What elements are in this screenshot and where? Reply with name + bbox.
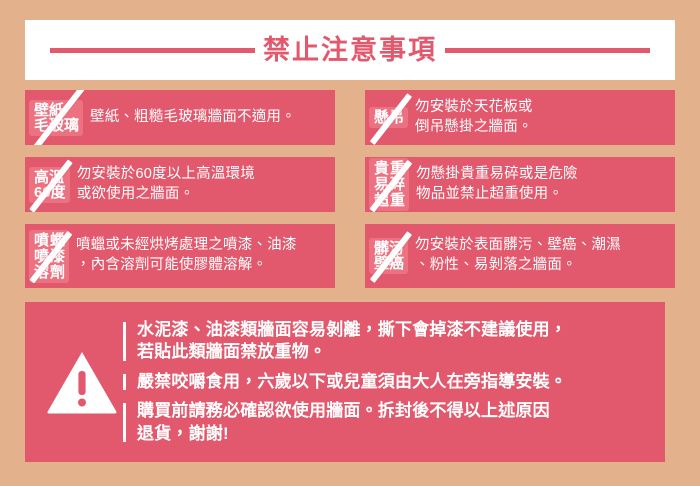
warning-tag-line: 壁紙: [34, 103, 79, 118]
warning-tag-line: 貴: [374, 161, 389, 176]
warning-box: 高溫60度勿安裝於60度以上高溫環境或欲使用之牆面。: [25, 157, 335, 212]
title-rule-left: [50, 48, 255, 53]
warning-tag-line: 超: [374, 193, 389, 208]
notice-paragraph-line: 嚴禁咬嚼食用，六歲以下或兒童須由大人在旁指導安裝。: [137, 371, 651, 393]
warning-box: 懸吊勿安裝於天花板或倒吊懸掛之牆面。: [365, 90, 675, 145]
notice-paragraph-line: 退貨，謝謝!: [137, 423, 651, 445]
warning-description: 勿安裝於60度以上高溫環境或欲使用之牆面。: [77, 165, 329, 204]
title-banner: 禁止注意事項: [25, 20, 675, 80]
page-title: 禁止注意事項: [263, 37, 437, 64]
warning-tag-line: 漆: [50, 249, 65, 264]
warning-description: 壁紙、粗糙毛玻璃牆面不適用。: [90, 108, 329, 128]
warning-grid: 壁紙毛玻璃壁紙、粗糙毛玻璃牆面不適用。懸吊勿安裝於天花板或倒吊懸掛之牆面。高溫6…: [25, 90, 675, 288]
notice-paragraph-line: 水泥漆、油漆類牆面容易剝離，撕下會掉漆不建議使用，: [137, 319, 651, 341]
warning-poster: 禁止注意事項 壁紙毛玻璃壁紙、粗糙毛玻璃牆面不適用。懸吊勿安裝於天花板或倒吊懸掛…: [0, 0, 700, 486]
warning-description-line: 勿懸掛貴重易碎或是危險: [416, 165, 669, 185]
warning-description-line: 、粉性、易剝落之牆面。: [415, 256, 669, 276]
warning-tag-line: 壁癌: [374, 256, 404, 271]
warning-tag: 噴蠟噴漆溶劑: [29, 230, 69, 283]
warning-description-line: 勿安裝於表面髒污、壁癌、潮濕: [415, 236, 669, 256]
warning-description: 勿安裝於表面髒污、壁癌、潮濕、粉性、易剝落之牆面。: [415, 236, 669, 275]
notice-paragraph-line: 購買前請務必確認欲使用牆面。拆封後不得以上述原因: [137, 400, 651, 422]
warning-tag: 貴重易碎超重: [369, 158, 409, 211]
warning-description-line: ，內含溶劑可能使膠體溶解。: [76, 256, 329, 276]
notice-paragraph-line: 若貼此類牆面禁放重物。: [137, 341, 651, 363]
warning-tag-line: 溶: [34, 265, 49, 280]
warning-triangle-icon: [43, 349, 121, 415]
warning-tag-line: 噴: [34, 233, 49, 248]
notice-paragraph: 購買前請務必確認欲使用牆面。拆封後不得以上述原因退貨，謝謝!: [123, 400, 651, 445]
warning-tag-line: 毛玻璃: [34, 118, 79, 133]
warning-description-line: 倒吊懸掛之牆面。: [415, 118, 669, 138]
warning-description-line: 勿安裝於60度以上高溫環境: [77, 165, 329, 185]
warning-tag-line: 易: [374, 177, 389, 192]
warning-tag-line: 懸吊: [374, 110, 404, 125]
warning-description-line: 噴蠟或未經烘烤處理之噴漆、油漆: [76, 236, 329, 256]
warning-box: 噴蠟噴漆溶劑噴蠟或未經烘烤處理之噴漆、油漆，內含溶劑可能使膠體溶解。: [25, 224, 335, 288]
warning-description-line: 或欲使用之牆面。: [77, 185, 329, 205]
warning-tag-line: 噴: [34, 249, 49, 264]
warning-tag-line: 重: [390, 161, 405, 176]
warning-description-line: 勿安裝於天花板或: [415, 98, 669, 118]
warning-tag-line: 重: [390, 193, 405, 208]
warning-tag: 懸吊: [369, 107, 408, 128]
warning-tag: 壁紙毛玻璃: [29, 100, 83, 136]
warning-tag-line: 碎: [390, 177, 405, 192]
warning-description-line: 壁紙、粗糙毛玻璃牆面不適用。: [90, 108, 329, 128]
warning-tag: 髒污壁癌: [369, 238, 408, 274]
warning-tag-line: 劑: [50, 265, 65, 280]
title-rule-right: [445, 48, 650, 53]
warning-description: 勿安裝於天花板或倒吊懸掛之牆面。: [415, 98, 669, 137]
warning-box: 髒污壁癌勿安裝於表面髒污、壁癌、潮濕、粉性、易剝落之牆面。: [365, 224, 675, 288]
warning-tag-line: 高溫: [34, 170, 66, 185]
warning-box: 壁紙毛玻璃壁紙、粗糙毛玻璃牆面不適用。: [25, 90, 335, 145]
warning-description-line: 物品並禁止超重使用。: [416, 185, 669, 205]
warning-tag-line: 髒污: [374, 241, 404, 256]
notice-paragraph: 水泥漆、油漆類牆面容易剝離，撕下會掉漆不建議使用，若貼此類牆面禁放重物。: [123, 319, 651, 364]
warning-box: 貴重易碎超重勿懸掛貴重易碎或是危險物品並禁止超重使用。: [365, 157, 675, 212]
warning-tag-line: 蠟: [50, 233, 65, 248]
warning-description: 噴蠟或未經烘烤處理之噴漆、油漆，內含溶劑可能使膠體溶解。: [76, 236, 329, 275]
notice-text-body: 水泥漆、油漆類牆面容易剝離，撕下會掉漆不建議使用，若貼此類牆面禁放重物。嚴禁咬嚼…: [121, 319, 651, 445]
notice-panel: 水泥漆、油漆類牆面容易剝離，撕下會掉漆不建議使用，若貼此類牆面禁放重物。嚴禁咬嚼…: [25, 302, 665, 462]
warning-tag: 高溫60度: [29, 167, 70, 203]
notice-paragraph: 嚴禁咬嚼食用，六歲以下或兒童須由大人在旁指導安裝。: [123, 371, 651, 393]
warning-description: 勿懸掛貴重易碎或是危險物品並禁止超重使用。: [416, 165, 669, 204]
warning-tag-line: 60度: [34, 185, 66, 200]
